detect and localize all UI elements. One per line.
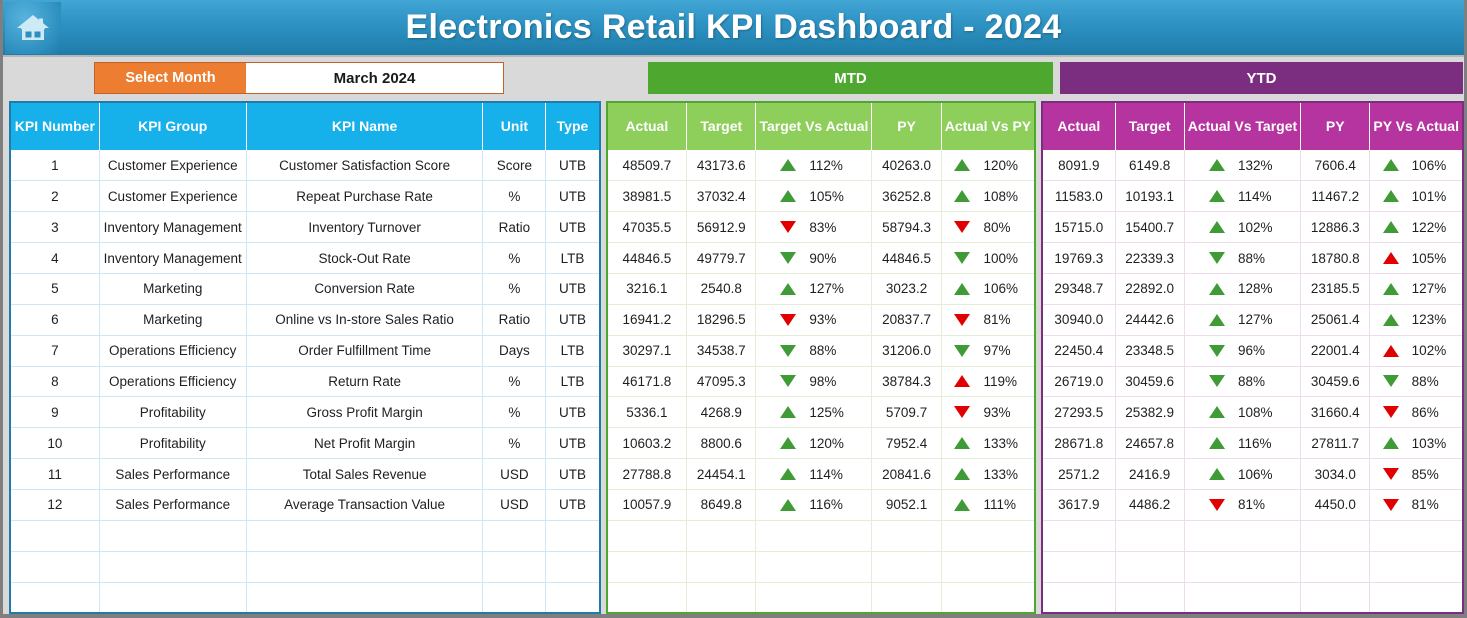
table-row-empty[interactable]	[10, 582, 600, 613]
table-row-empty[interactable]	[607, 582, 1036, 613]
delta-percent: 112%	[809, 158, 847, 173]
table-row[interactable]: 10057.98649.8116%9052.1111%	[607, 489, 1036, 520]
cell-mtd-py: 31206.0	[872, 335, 941, 366]
arrow-down-icon	[1209, 375, 1225, 387]
cell-empty	[872, 520, 941, 551]
delta-percent: 106%	[1412, 158, 1450, 173]
arrow-down-icon	[954, 252, 970, 264]
cell-ytd-py: 12886.3	[1301, 212, 1370, 243]
arrow-down-icon	[780, 314, 796, 326]
arrow-down-icon	[954, 345, 970, 357]
controls-strip: Select Month March 2024 MTD YTD	[3, 57, 1464, 101]
cell-unit: %	[483, 243, 546, 274]
cell-empty	[1184, 582, 1300, 613]
col-ytd-actual-vs-target[interactable]: Actual Vs Target	[1184, 102, 1300, 150]
cell-empty	[1370, 551, 1463, 582]
cell-kpi-number: 1	[10, 150, 99, 181]
cell-mtd-actual: 30297.1	[607, 335, 687, 366]
cell-empty	[99, 551, 246, 582]
cell-ytd-py: 27811.7	[1301, 428, 1370, 459]
table-header-row: Actual Target Target Vs Actual PY Actual…	[607, 102, 1036, 150]
table-row[interactable]: 8Operations EfficiencyReturn Rate%LTB	[10, 366, 600, 397]
table-row[interactable]: 2571.22416.9106%3034.085%	[1042, 459, 1463, 490]
delta-percent: 125%	[809, 405, 847, 420]
cell-mtd-actual-vs-py: 80%	[941, 212, 1035, 243]
cell-mtd-actual-vs-py: 120%	[941, 150, 1035, 181]
cell-kpi-number: 8	[10, 366, 99, 397]
table-row[interactable]: 11583.010193.1114%11467.2101%	[1042, 181, 1463, 212]
cell-empty	[1184, 520, 1300, 551]
table-row[interactable]: 29348.722892.0128%23185.5127%	[1042, 273, 1463, 304]
arrow-up-icon	[780, 159, 796, 171]
table-row-empty[interactable]	[1042, 520, 1463, 551]
arrow-up-icon	[954, 375, 970, 387]
arrow-up-icon	[954, 468, 970, 480]
table-row[interactable]: 27788.824454.1114%20841.6133%	[607, 459, 1036, 490]
cell-type: UTB	[546, 273, 600, 304]
table-row[interactable]: 3617.94486.281%4450.081%	[1042, 489, 1463, 520]
col-mtd-target-vs-actual[interactable]: Target Vs Actual	[756, 102, 872, 150]
delta-percent: 88%	[1238, 251, 1276, 266]
cell-mtd-target-vs-actual: 105%	[756, 181, 872, 212]
delta-percent: 114%	[809, 467, 847, 482]
cell-unit: Days	[483, 335, 546, 366]
home-button[interactable]	[5, 2, 61, 54]
cell-mtd-target: 56912.9	[687, 212, 756, 243]
cell-mtd-py: 3023.2	[872, 273, 941, 304]
cell-mtd-actual-vs-py: 100%	[941, 243, 1035, 274]
delta-percent: 127%	[809, 281, 847, 296]
delta-percent: 106%	[983, 281, 1021, 296]
table-row[interactable]: 1Customer ExperienceCustomer Satisfactio…	[10, 150, 600, 181]
cell-unit: Score	[483, 150, 546, 181]
cell-mtd-actual: 44846.5	[607, 243, 687, 274]
cell-mtd-py: 9052.1	[872, 489, 941, 520]
cell-ytd-py-vs-actual: 105%	[1370, 243, 1463, 274]
cell-unit: %	[483, 397, 546, 428]
cell-empty	[687, 551, 756, 582]
table-row[interactable]: 16941.218296.593%20837.781%	[607, 304, 1036, 335]
arrow-down-icon	[1209, 499, 1225, 511]
cell-kpi-group: Operations Efficiency	[99, 335, 246, 366]
cell-mtd-actual-vs-py: 108%	[941, 181, 1035, 212]
cell-kpi-group: Inventory Management	[99, 212, 246, 243]
col-ytd-target[interactable]: Target	[1115, 102, 1184, 150]
cell-empty	[1301, 582, 1370, 613]
cell-ytd-target: 23348.5	[1115, 335, 1184, 366]
cell-empty	[1042, 551, 1115, 582]
cell-empty	[1301, 551, 1370, 582]
cell-empty	[1042, 582, 1115, 613]
cell-mtd-py: 20841.6	[872, 459, 941, 490]
cell-empty	[246, 551, 483, 582]
cell-empty	[546, 582, 600, 613]
table-row[interactable]: 48509.743173.6112%40263.0120%	[607, 150, 1036, 181]
table-row[interactable]: 44846.549779.790%44846.5100%	[607, 243, 1036, 274]
cell-ytd-py-vs-actual: 123%	[1370, 304, 1463, 335]
cell-mtd-actual-vs-py: 119%	[941, 366, 1035, 397]
cell-ytd-actual: 2571.2	[1042, 459, 1115, 490]
cell-mtd-actual: 5336.1	[607, 397, 687, 428]
table-row-empty[interactable]	[607, 551, 1036, 582]
cell-empty	[1301, 520, 1370, 551]
table-row[interactable]: 15715.015400.7102%12886.3122%	[1042, 212, 1463, 243]
ytd-table: Actual Target Actual Vs Target PY PY Vs …	[1041, 101, 1464, 614]
arrow-down-icon	[1383, 406, 1399, 418]
cell-empty	[1370, 520, 1463, 551]
col-mtd-target[interactable]: Target	[687, 102, 756, 150]
delta-percent: 103%	[1412, 436, 1450, 451]
table-row[interactable]: 3216.12540.8127%3023.2106%	[607, 273, 1036, 304]
table-row[interactable]: 4Inventory ManagementStock-Out Rate%LTB	[10, 243, 600, 274]
cell-empty	[941, 520, 1035, 551]
cell-kpi-number: 3	[10, 212, 99, 243]
delta-percent: 81%	[1412, 497, 1450, 512]
arrow-down-icon	[780, 345, 796, 357]
delta-percent: 116%	[1238, 436, 1276, 451]
cell-unit: %	[483, 366, 546, 397]
cell-type: UTB	[546, 489, 600, 520]
cell-ytd-py: 3034.0	[1301, 459, 1370, 490]
cell-kpi-name: Inventory Turnover	[246, 212, 483, 243]
cell-kpi-name: Return Rate	[246, 366, 483, 397]
table-row[interactable]: 3Inventory ManagementInventory TurnoverR…	[10, 212, 600, 243]
arrow-up-icon	[780, 468, 796, 480]
delta-percent: 88%	[1238, 374, 1276, 389]
cell-mtd-target-vs-actual: 120%	[756, 428, 872, 459]
cell-mtd-actual-vs-py: 81%	[941, 304, 1035, 335]
cell-ytd-actual: 27293.5	[1042, 397, 1115, 428]
delta-percent: 128%	[1238, 281, 1276, 296]
cell-ytd-target: 24657.8	[1115, 428, 1184, 459]
delta-percent: 133%	[983, 436, 1021, 451]
table-row[interactable]: 7Operations EfficiencyOrder Fulfillment …	[10, 335, 600, 366]
cell-type: LTB	[546, 335, 600, 366]
arrow-up-icon	[780, 283, 796, 295]
cell-kpi-name: Online vs In-store Sales Ratio	[246, 304, 483, 335]
cell-ytd-py-vs-actual: 101%	[1370, 181, 1463, 212]
cell-kpi-group: Operations Efficiency	[99, 366, 246, 397]
cell-empty	[941, 582, 1035, 613]
cell-kpi-group: Inventory Management	[99, 243, 246, 274]
delta-percent: 88%	[1412, 374, 1450, 389]
arrow-down-icon	[954, 406, 970, 418]
delta-percent: 120%	[983, 158, 1021, 173]
cell-mtd-target: 24454.1	[687, 459, 756, 490]
cell-mtd-target: 2540.8	[687, 273, 756, 304]
arrow-up-icon	[954, 283, 970, 295]
arrow-up-icon	[1209, 159, 1225, 171]
delta-percent: 86%	[1412, 405, 1450, 420]
cell-kpi-number: 5	[10, 273, 99, 304]
cell-ytd-py: 25061.4	[1301, 304, 1370, 335]
cell-ytd-actual-vs-target: 102%	[1184, 212, 1300, 243]
cell-type: UTB	[546, 150, 600, 181]
cell-unit: %	[483, 428, 546, 459]
col-mtd-py[interactable]: PY	[872, 102, 941, 150]
cell-ytd-actual: 26719.0	[1042, 366, 1115, 397]
mtd-section-header: MTD	[648, 62, 1053, 94]
table-row[interactable]: 46171.847095.398%38784.3119%	[607, 366, 1036, 397]
cell-kpi-name: Repeat Purchase Rate	[246, 181, 483, 212]
cell-kpi-name: Stock-Out Rate	[246, 243, 483, 274]
cell-ytd-actual: 15715.0	[1042, 212, 1115, 243]
col-ytd-py-vs-actual[interactable]: PY Vs Actual	[1370, 102, 1463, 150]
cell-unit: USD	[483, 489, 546, 520]
cell-kpi-number: 12	[10, 489, 99, 520]
cell-mtd-target: 34538.7	[687, 335, 756, 366]
cell-empty	[99, 582, 246, 613]
delta-percent: 127%	[1412, 281, 1450, 296]
table-row-empty[interactable]	[10, 551, 600, 582]
arrow-up-icon	[1209, 468, 1225, 480]
delta-percent: 85%	[1412, 467, 1450, 482]
table-row[interactable]: 10603.28800.6120%7952.4133%	[607, 428, 1036, 459]
arrow-up-icon	[1209, 406, 1225, 418]
table-row[interactable]: 8091.96149.8132%7606.4106%	[1042, 150, 1463, 181]
delta-percent: 80%	[983, 220, 1021, 235]
cell-mtd-actual: 48509.7	[607, 150, 687, 181]
table-row-empty[interactable]	[1042, 582, 1463, 613]
cell-ytd-py-vs-actual: 103%	[1370, 428, 1463, 459]
cell-mtd-py: 5709.7	[872, 397, 941, 428]
cell-mtd-target-vs-actual: 90%	[756, 243, 872, 274]
cell-empty	[1115, 520, 1184, 551]
col-type[interactable]: Type	[546, 102, 600, 150]
arrow-up-icon	[1209, 221, 1225, 233]
arrow-up-icon	[1209, 283, 1225, 295]
cell-ytd-target: 15400.7	[1115, 212, 1184, 243]
cell-ytd-py-vs-actual: 122%	[1370, 212, 1463, 243]
cell-mtd-py: 58794.3	[872, 212, 941, 243]
cell-empty	[10, 551, 99, 582]
cell-empty	[1115, 582, 1184, 613]
table-row[interactable]: 11Sales PerformanceTotal Sales RevenueUS…	[10, 459, 600, 490]
table-row-empty[interactable]	[607, 520, 1036, 551]
delta-percent: 119%	[983, 374, 1021, 389]
cell-mtd-target: 18296.5	[687, 304, 756, 335]
cell-ytd-py: 22001.4	[1301, 335, 1370, 366]
mtd-table: Actual Target Target Vs Actual PY Actual…	[606, 101, 1037, 614]
table-row[interactable]: 38981.537032.4105%36252.8108%	[607, 181, 1036, 212]
table-row[interactable]: 5MarketingConversion Rate%UTB	[10, 273, 600, 304]
col-ytd-actual[interactable]: Actual	[1042, 102, 1115, 150]
cell-ytd-target: 30459.6	[1115, 366, 1184, 397]
select-month-value[interactable]: March 2024	[246, 63, 503, 93]
cell-ytd-py-vs-actual: 85%	[1370, 459, 1463, 490]
cell-empty	[483, 520, 546, 551]
cell-kpi-group: Sales Performance	[99, 459, 246, 490]
cell-kpi-name: Net Profit Margin	[246, 428, 483, 459]
month-selector[interactable]: Select Month March 2024	[94, 62, 504, 94]
table-row[interactable]: 47035.556912.983%58794.380%	[607, 212, 1036, 243]
cell-kpi-name: Gross Profit Margin	[246, 397, 483, 428]
delta-percent: 100%	[983, 251, 1021, 266]
table-row[interactable]: 30940.024442.6127%25061.4123%	[1042, 304, 1463, 335]
cell-mtd-actual: 46171.8	[607, 366, 687, 397]
cell-mtd-actual: 47035.5	[607, 212, 687, 243]
arrow-up-icon	[1209, 437, 1225, 449]
cell-kpi-group: Profitability	[99, 397, 246, 428]
kpi-tables: KPI Number KPI Group KPI Name Unit Type …	[3, 101, 1464, 614]
cell-type: LTB	[546, 243, 600, 274]
cell-ytd-actual: 28671.8	[1042, 428, 1115, 459]
cell-mtd-actual-vs-py: 97%	[941, 335, 1035, 366]
arrow-down-icon	[780, 375, 796, 387]
cell-type: UTB	[546, 397, 600, 428]
delta-percent: 93%	[983, 405, 1021, 420]
col-mtd-actual[interactable]: Actual	[607, 102, 687, 150]
cell-mtd-actual-vs-py: 133%	[941, 459, 1035, 490]
cell-ytd-target: 6149.8	[1115, 150, 1184, 181]
delta-percent: 116%	[809, 497, 847, 512]
cell-kpi-number: 9	[10, 397, 99, 428]
cell-mtd-actual-vs-py: 106%	[941, 273, 1035, 304]
cell-ytd-py-vs-actual: 81%	[1370, 489, 1463, 520]
cell-type: UTB	[546, 459, 600, 490]
delta-percent: 120%	[809, 436, 847, 451]
table-row[interactable]: 19769.322339.388%18780.8105%	[1042, 243, 1463, 274]
cell-mtd-py: 20837.7	[872, 304, 941, 335]
cell-ytd-py-vs-actual: 102%	[1370, 335, 1463, 366]
kpi-info-body: 1Customer ExperienceCustomer Satisfactio…	[10, 150, 600, 613]
delta-percent: 102%	[1238, 220, 1276, 235]
arrow-up-icon	[954, 437, 970, 449]
cell-mtd-target: 4268.9	[687, 397, 756, 428]
cell-mtd-target: 37032.4	[687, 181, 756, 212]
cell-kpi-name: Average Transaction Value	[246, 489, 483, 520]
cell-unit: %	[483, 181, 546, 212]
cell-empty	[246, 520, 483, 551]
table-row[interactable]: 27293.525382.9108%31660.486%	[1042, 397, 1463, 428]
cell-mtd-target-vs-actual: 116%	[756, 489, 872, 520]
arrow-up-icon	[1383, 345, 1399, 357]
cell-empty	[546, 551, 600, 582]
cell-mtd-actual-vs-py: 93%	[941, 397, 1035, 428]
cell-empty	[546, 520, 600, 551]
cell-mtd-actual-vs-py: 111%	[941, 489, 1035, 520]
cell-empty	[246, 582, 483, 613]
cell-type: UTB	[546, 428, 600, 459]
cell-empty	[941, 551, 1035, 582]
table-row[interactable]: 28671.824657.8116%27811.7103%	[1042, 428, 1463, 459]
col-kpi-name[interactable]: KPI Name	[246, 102, 483, 150]
table-row[interactable]: 9ProfitabilityGross Profit Margin%UTB	[10, 397, 600, 428]
col-kpi-group[interactable]: KPI Group	[99, 102, 246, 150]
cell-ytd-target: 10193.1	[1115, 181, 1184, 212]
cell-ytd-actual: 29348.7	[1042, 273, 1115, 304]
col-kpi-number[interactable]: KPI Number	[10, 102, 99, 150]
cell-type: UTB	[546, 181, 600, 212]
cell-mtd-target: 8800.6	[687, 428, 756, 459]
delta-percent: 102%	[1412, 343, 1450, 358]
cell-empty	[687, 520, 756, 551]
table-row[interactable]: 26719.030459.688%30459.688%	[1042, 366, 1463, 397]
cell-ytd-py: 31660.4	[1301, 397, 1370, 428]
arrow-up-icon	[1383, 159, 1399, 171]
col-mtd-actual-vs-py[interactable]: Actual Vs PY	[941, 102, 1035, 150]
cell-unit: %	[483, 273, 546, 304]
cell-ytd-py-vs-actual: 86%	[1370, 397, 1463, 428]
cell-empty	[10, 520, 99, 551]
arrow-up-icon	[1383, 221, 1399, 233]
cell-ytd-actual-vs-target: 88%	[1184, 366, 1300, 397]
cell-ytd-target: 25382.9	[1115, 397, 1184, 428]
title-banner: Electronics Retail KPI Dashboard - 2024	[3, 0, 1464, 57]
col-unit[interactable]: Unit	[483, 102, 546, 150]
table-row[interactable]: 6MarketingOnline vs In-store Sales Ratio…	[10, 304, 600, 335]
arrow-down-icon	[1383, 375, 1399, 387]
cell-ytd-py: 7606.4	[1301, 150, 1370, 181]
delta-percent: 111%	[983, 497, 1021, 512]
cell-ytd-target: 2416.9	[1115, 459, 1184, 490]
select-month-label[interactable]: Select Month	[95, 63, 246, 93]
table-row[interactable]: 5336.14268.9125%5709.793%	[607, 397, 1036, 428]
arrow-up-icon	[1209, 190, 1225, 202]
cell-kpi-name: Customer Satisfaction Score	[246, 150, 483, 181]
arrow-down-icon	[1209, 252, 1225, 264]
delta-percent: 133%	[983, 467, 1021, 482]
cell-empty	[607, 582, 687, 613]
cell-ytd-py-vs-actual: 106%	[1370, 150, 1463, 181]
cell-ytd-actual: 8091.9	[1042, 150, 1115, 181]
cell-mtd-target: 8649.8	[687, 489, 756, 520]
cell-type: UTB	[546, 212, 600, 243]
delta-percent: 127%	[1238, 312, 1276, 327]
cell-ytd-target: 24442.6	[1115, 304, 1184, 335]
cell-mtd-py: 38784.3	[872, 366, 941, 397]
cell-kpi-group: Sales Performance	[99, 489, 246, 520]
table-row[interactable]: 12Sales PerformanceAverage Transaction V…	[10, 489, 600, 520]
arrow-up-icon	[1383, 252, 1399, 264]
cell-empty	[1184, 551, 1300, 582]
cell-unit: USD	[483, 459, 546, 490]
arrow-down-icon	[954, 221, 970, 233]
delta-percent: 81%	[1238, 497, 1276, 512]
cell-empty	[872, 582, 941, 613]
cell-ytd-py-vs-actual: 88%	[1370, 366, 1463, 397]
cell-empty	[1042, 520, 1115, 551]
arrow-up-icon	[954, 190, 970, 202]
table-row-empty[interactable]	[10, 520, 600, 551]
delta-percent: 132%	[1238, 158, 1276, 173]
table-header-row: KPI Number KPI Group KPI Name Unit Type	[10, 102, 600, 150]
cell-kpi-group: Profitability	[99, 428, 246, 459]
col-ytd-py[interactable]: PY	[1301, 102, 1370, 150]
table-row[interactable]: 2Customer ExperienceRepeat Purchase Rate…	[10, 181, 600, 212]
cell-mtd-py: 40263.0	[872, 150, 941, 181]
cell-ytd-actual-vs-target: 114%	[1184, 181, 1300, 212]
table-row[interactable]: 30297.134538.788%31206.097%	[607, 335, 1036, 366]
dashboard-page: Electronics Retail KPI Dashboard - 2024 …	[0, 0, 1467, 618]
arrow-up-icon	[954, 499, 970, 511]
table-row[interactable]: 22450.423348.596%22001.4102%	[1042, 335, 1463, 366]
delta-percent: 83%	[809, 220, 847, 235]
cell-ytd-actual-vs-target: 108%	[1184, 397, 1300, 428]
cell-empty	[483, 551, 546, 582]
arrow-down-icon	[954, 314, 970, 326]
cell-mtd-target: 49779.7	[687, 243, 756, 274]
table-row-empty[interactable]	[1042, 551, 1463, 582]
home-icon	[16, 13, 50, 43]
cell-empty	[687, 582, 756, 613]
arrow-up-icon	[1383, 437, 1399, 449]
cell-ytd-actual: 11583.0	[1042, 181, 1115, 212]
table-row[interactable]: 10ProfitabilityNet Profit Margin%UTB	[10, 428, 600, 459]
cell-ytd-actual-vs-target: 106%	[1184, 459, 1300, 490]
cell-type: UTB	[546, 304, 600, 335]
cell-mtd-target-vs-actual: 83%	[756, 212, 872, 243]
